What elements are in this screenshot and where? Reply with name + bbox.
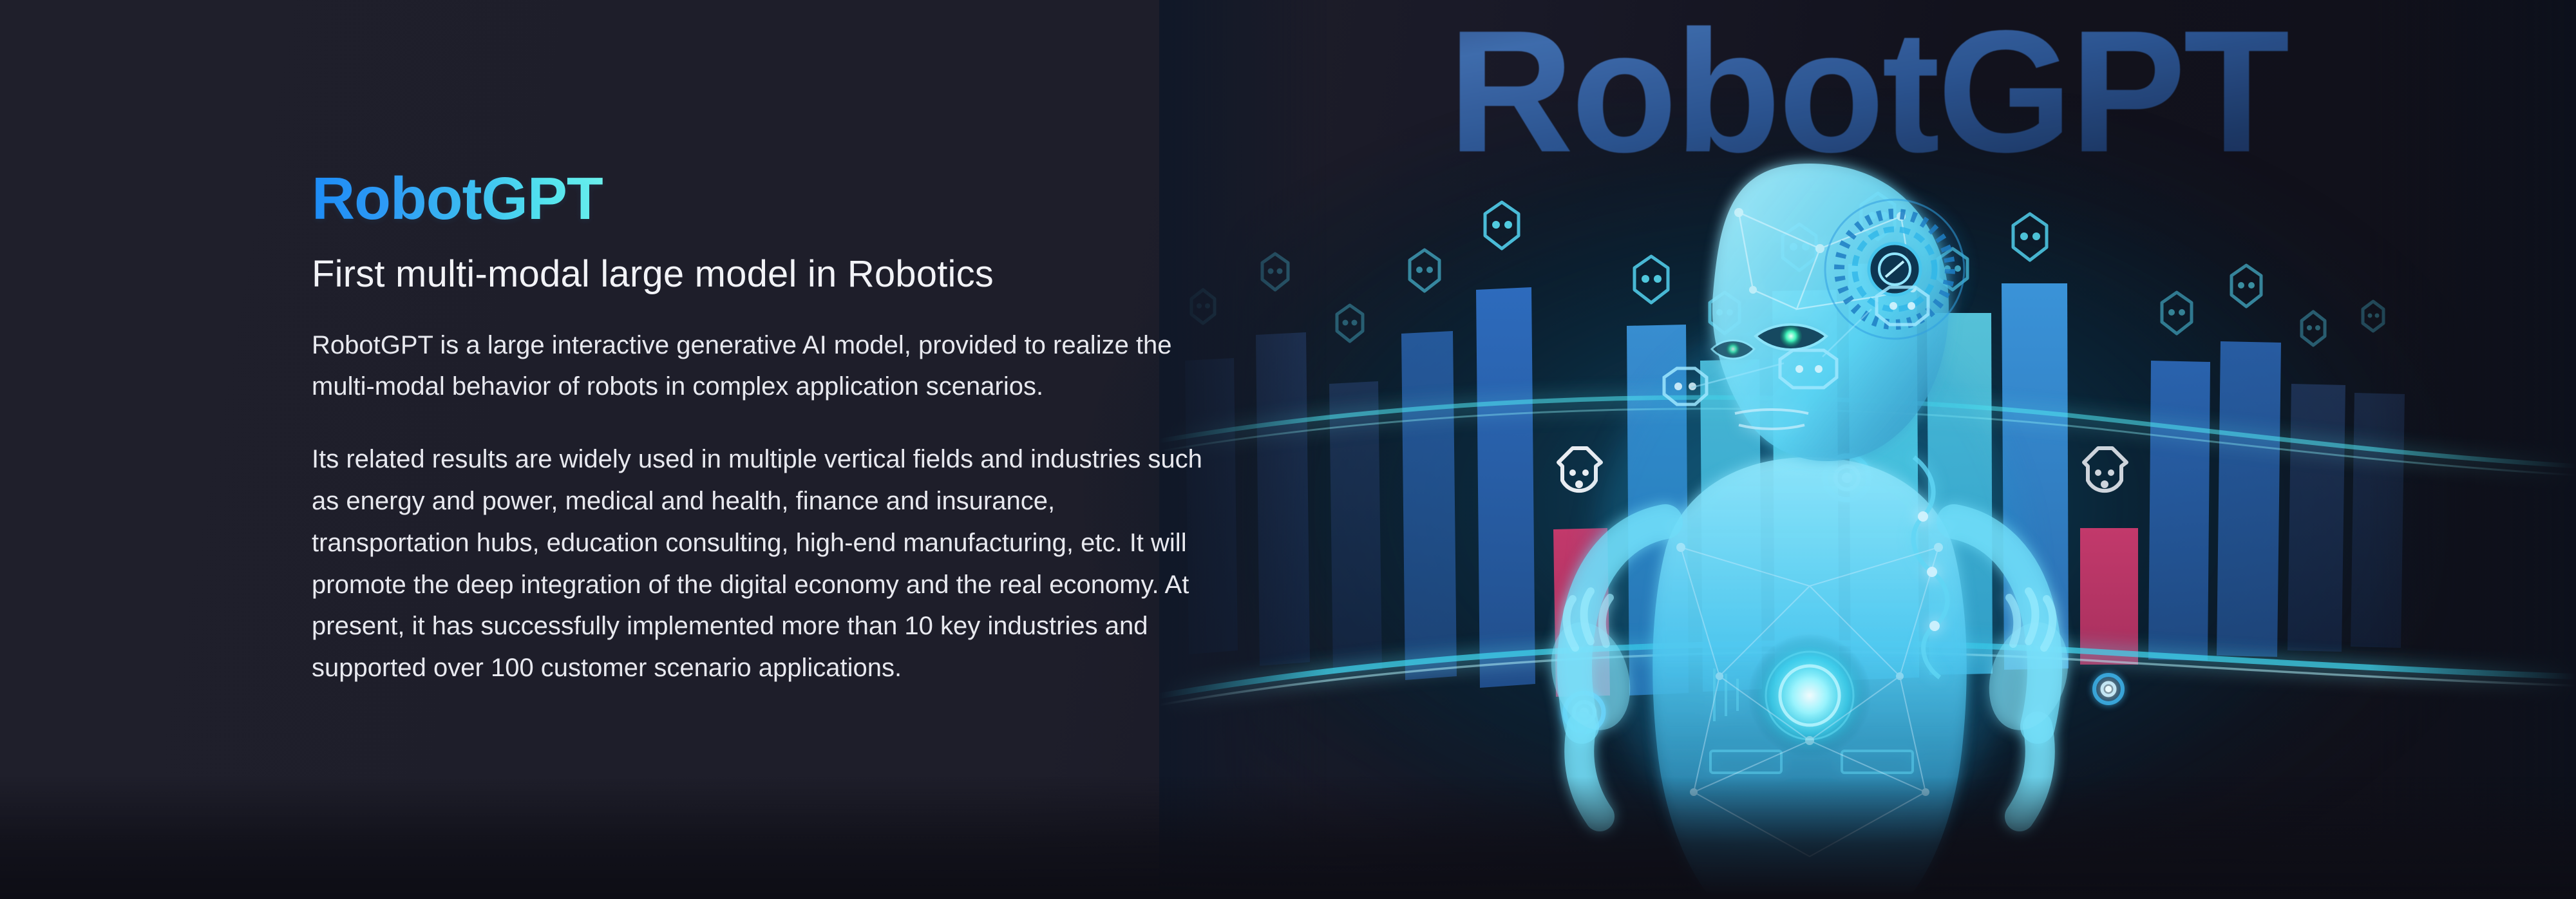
hero-copy: RobotGPT First multi-modal large model i… (312, 169, 1226, 689)
hero-paragraph-2: Its related results are widely used in m… (312, 439, 1207, 689)
robot-torso (1538, 457, 2081, 893)
hero-subtitle: First multi-modal large model in Robotic… (312, 253, 1226, 296)
hero-paragraph-1: RobotGPT is a large interactive generati… (312, 325, 1207, 408)
page-title: RobotGPT (312, 169, 603, 229)
holographic-robot (1462, 97, 2157, 899)
robot-artwork: RobotGPT (1159, 0, 2576, 899)
hero-banner: RobotGPT (0, 0, 2576, 899)
